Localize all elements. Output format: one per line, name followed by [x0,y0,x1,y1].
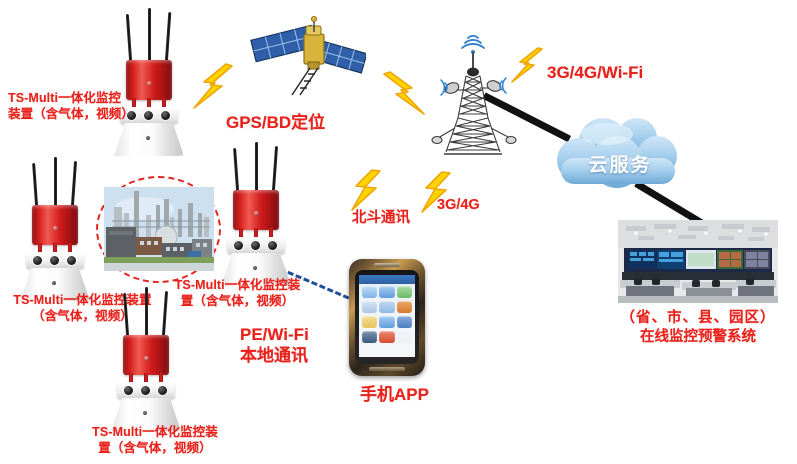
cloud-service-node: 云服务 [545,112,695,200]
control-room-label-line2: 在线监控预警系统 [608,328,788,347]
handheld-speaker [374,263,400,267]
device-indicator [143,411,147,415]
alert-app-icon[interactable] [379,331,394,343]
device-body [32,205,78,245]
sensor-port [141,386,150,395]
device-body [233,190,279,230]
sensor-port [251,241,260,250]
sensor-port [50,256,59,265]
cell-tower-icon [428,22,520,162]
handheld-screen[interactable] [359,275,415,357]
data-app-icon[interactable] [362,301,377,313]
device-body [123,335,169,375]
device-indicator [253,266,257,270]
beidou-link-label: 北斗通讯 [352,209,410,228]
lightning-bolt-gps-uplink [188,62,250,112]
control-room-photo [618,220,778,303]
gas-app-icon[interactable] [362,316,377,328]
sensor-port [234,241,243,250]
sensor-port [67,256,76,265]
handheld-app-label: 手机APP [360,384,429,406]
device-mid-left [14,155,110,307]
device-bottom [105,285,201,437]
lightning-bolt-gps-downlink [378,70,436,118]
control-room-label-line1: （省、市、县、园区） [608,309,788,328]
sensor-port [124,386,133,395]
settings-app-icon[interactable] [397,286,412,298]
app-status-bar [359,275,415,284]
handheld-bottom-grill [369,367,405,371]
video-app-icon[interactable] [379,316,394,328]
sensor-port [33,256,42,265]
monitor-app-icon[interactable] [379,286,394,298]
sensor-port [268,241,277,250]
sensor-port [158,386,167,395]
pause-app-icon[interactable] [397,316,412,328]
gps-link-label: GPS/BD定位 [226,112,325,134]
device-mid-right [215,140,311,292]
device-bottom-label: TS-Multi一体化监控装 置（含气体，视频） [70,424,240,456]
radar-app-icon[interactable] [362,331,377,343]
handheld-device[interactable] [349,259,425,376]
device-indicator [52,281,56,285]
blank-app-icon [397,331,412,343]
satellite-icon [248,12,366,97]
cloud-label: 云服务 [545,150,695,177]
sensor-port [161,111,170,120]
3g4g-link-label: 3G/4G [437,196,480,215]
device-top-left-label: TS-Multi一体化监控 装置（含气体，视频） [8,90,148,122]
industrial-plant-photo [104,187,214,271]
alarm-app-icon[interactable] [397,301,412,313]
local-link-label: PE/Wi-Fi 本地通讯 [240,325,309,366]
3g4g-wifi-link-label: 3G/4G/Wi-Fi [547,62,643,84]
home-app-icon[interactable] [362,286,377,298]
lightning-bolt-beidou [348,168,392,214]
app-icon-grid[interactable] [362,286,412,343]
diagram-canvas: 云服务 [0,0,797,464]
device-indicator [146,136,150,140]
chart-app-icon[interactable] [379,301,394,313]
